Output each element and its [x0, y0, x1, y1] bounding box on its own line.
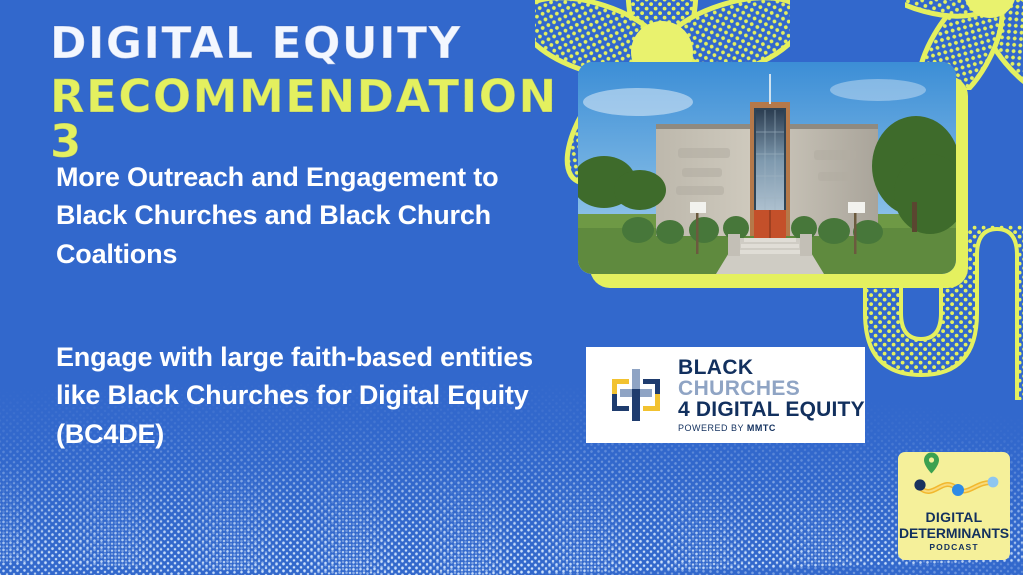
podcast-line-1: DIGITAL: [898, 510, 1010, 526]
bc4de-powered-brand: MMTC: [747, 423, 776, 433]
podcast-line-2: DETERMINANTS: [898, 526, 1010, 542]
podcast-badge-text: DIGITAL DETERMINANTS PODCAST: [898, 510, 1010, 553]
bc4de-wordmark: BLACK CHURCHES 4 DIGITAL EQUITY POWERED …: [678, 357, 865, 433]
page-title: Digital Equity Recommendation 3: [50, 22, 570, 172]
recommendation-detail-text: Engage with large faith-based entities l…: [56, 338, 546, 453]
bc4de-line-3: 4 DIGITAL EQUITY: [678, 399, 865, 420]
podcast-badge: DIGITAL DETERMINANTS PODCAST: [898, 452, 1010, 560]
bc4de-cross-icon: [608, 367, 664, 423]
podcast-journey-icon: [898, 452, 1010, 514]
church-photo-container: [578, 62, 956, 274]
bc4de-line-1: BLACK: [678, 357, 865, 378]
bc4de-powered-prefix: POWERED BY: [678, 423, 747, 433]
recommendation-summary: More Outreach and Engagement to Black Ch…: [56, 158, 556, 273]
recommendation-detail: Engage with large faith-based entities l…: [56, 338, 546, 453]
headline-line-1: Digital Equity: [50, 22, 570, 66]
headline-line-2: Recommendation 3: [50, 74, 570, 164]
bc4de-line-2: CHURCHES: [678, 378, 865, 399]
bc4de-powered-by: POWERED BY MMTC: [678, 424, 865, 433]
bc4de-logo-card: BLACK CHURCHES 4 DIGITAL EQUITY POWERED …: [586, 347, 865, 443]
slide-canvas: Digital Equity Recommendation 3 More Out…: [0, 0, 1023, 575]
church-photo: [578, 62, 956, 274]
recommendation-summary-text: More Outreach and Engagement to Black Ch…: [56, 158, 556, 273]
podcast-line-3: PODCAST: [898, 543, 1010, 553]
